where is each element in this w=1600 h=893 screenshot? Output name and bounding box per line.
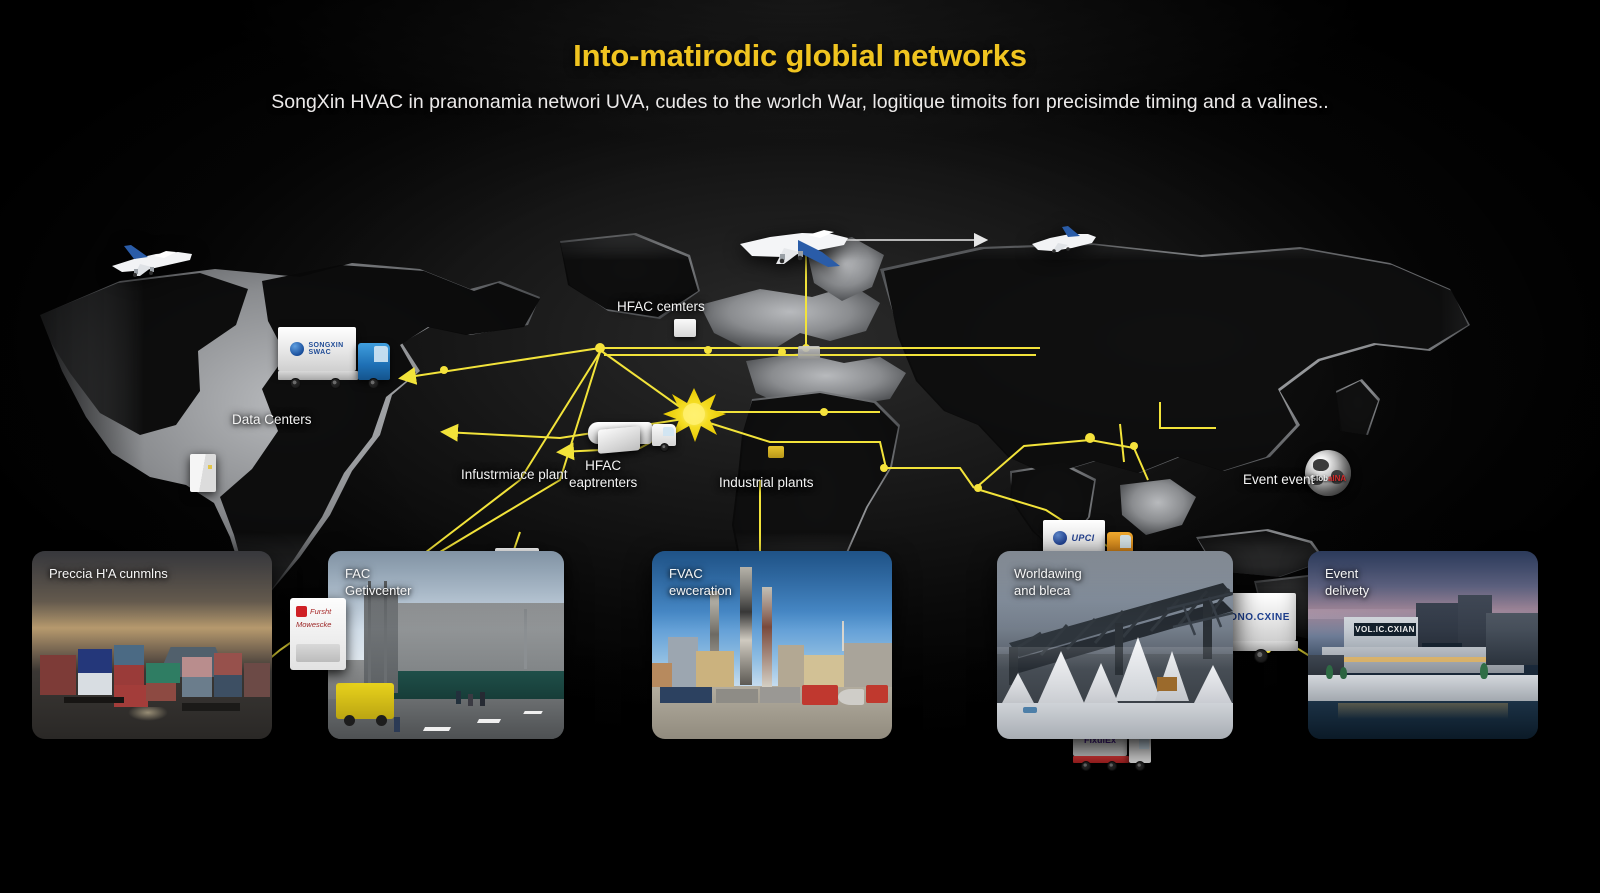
truck-cab (358, 343, 390, 380)
truck-wheel (1107, 761, 1117, 771)
upci-logo: UPCI (1053, 531, 1094, 545)
label-event-event: Event event (1243, 472, 1314, 489)
data-center-cabinet-icon (190, 454, 216, 492)
card-fac-getivcenter[interactable]: FAC Getivcenter (328, 551, 564, 739)
card-caption: Preccia H'A cunmlns (49, 566, 168, 583)
label-industrial-plants: Industrial plants (719, 475, 814, 492)
truck-brand-label: UPCI (1071, 533, 1094, 543)
card-event-delivety[interactable]: VOL.IC.CXIAN Event delivety (1308, 551, 1538, 739)
small-van-icon (674, 319, 696, 337)
globe-icon (290, 342, 304, 356)
card-strip: Preccia H'A cunmlns (0, 551, 1600, 751)
card-fvac-evcceration[interactable]: FVAC ewceration (652, 551, 892, 739)
globe-continent (1313, 459, 1329, 471)
plane-asia-arriving-icon (1028, 224, 1098, 265)
cab-window (374, 346, 388, 362)
truck-brand-label: SONGXIN SWAC (308, 342, 343, 357)
plane-europe-departing-icon (736, 222, 854, 281)
card-worldawing-bleca[interactable]: Worldawing and bleca (997, 551, 1233, 739)
label-data-centers: Data Centers (232, 412, 312, 429)
freight-sign-line2: Mowescke (296, 620, 340, 629)
truck-box-songxin: SONGXIN SWAC (278, 327, 356, 371)
header: Into-matirodic globial networks SongXin … (0, 0, 1600, 114)
freight-badge-icon (296, 606, 307, 617)
page-title: Into-matirodic globial networks (0, 38, 1600, 74)
truck-wheel (368, 378, 379, 389)
page-subtitle: SongXin HVAC in pranonamia networi UVA, … (0, 91, 1600, 114)
truck-chassis (278, 371, 358, 380)
card-caption: FAC Getivcenter (345, 566, 411, 600)
truck-wheel (1081, 761, 1091, 771)
card-caption: Worldawing and bleca (1014, 566, 1082, 600)
label-infustrmiace-plant: Infustrmiace plant (461, 467, 568, 484)
songxin-logo: SONGXIN SWAC (290, 342, 343, 357)
label-hfac-eaptrenters: HFAC eaptrenters (569, 458, 637, 492)
grey-module-icon (798, 346, 820, 359)
freight-sign-line1: Fursht (310, 607, 331, 616)
truck-wheel (330, 378, 341, 389)
pallet-box-icon (598, 426, 640, 454)
globe-icon (1053, 531, 1067, 545)
truck-songxin-hvac: SONGXIN SWAC (278, 327, 396, 387)
forklift-icon (768, 446, 784, 458)
freight-sign-base (296, 644, 340, 662)
label-hfac-centers: HFAC cemters (617, 299, 705, 316)
presentation-slide: Into-matirodic globial networks SongXin … (0, 0, 1600, 893)
truck-wheel (1135, 761, 1145, 771)
truck-wheel (660, 443, 669, 452)
freight-sign-row: Fursht (296, 606, 340, 617)
cab-window (663, 427, 674, 436)
card-caption: FVAC ewceration (669, 566, 732, 600)
freight-sign: Fursht Mowescke (290, 598, 346, 670)
plane-north-america-icon (104, 240, 196, 289)
truck-wheel (290, 378, 301, 389)
card-caption: Event delivety (1325, 566, 1369, 600)
card-container-terminal[interactable]: Preccia H'A cunmlns (32, 551, 272, 739)
cab-window (1120, 535, 1131, 548)
